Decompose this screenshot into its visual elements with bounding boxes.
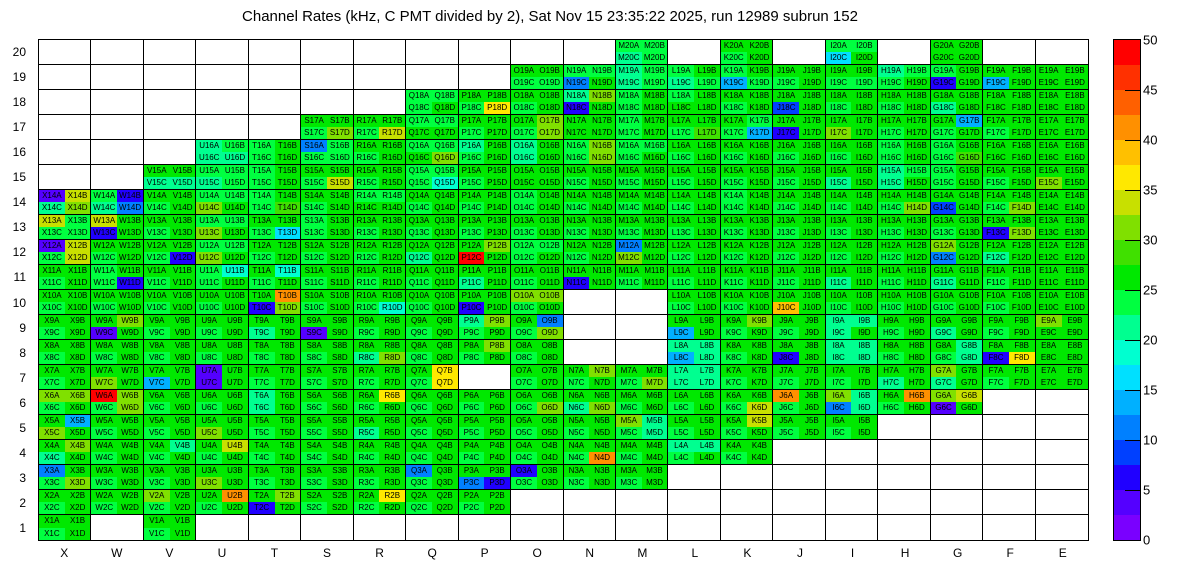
heatmap-subcell[interactable] <box>511 528 537 541</box>
heatmap-subcell[interactable] <box>694 40 720 52</box>
heatmap-subcell[interactable]: I9B <box>851 315 877 327</box>
heatmap-cell[interactable]: T4AT4BT4CT4D <box>249 440 301 465</box>
heatmap-subcell[interactable]: I19B <box>851 65 877 77</box>
heatmap-cell[interactable]: K15AK15BK15CK15D <box>721 165 773 190</box>
heatmap-subcell[interactable]: L15C <box>668 177 694 189</box>
heatmap-subcell[interactable]: J16D <box>799 152 825 164</box>
heatmap-subcell[interactable]: I7D <box>851 377 877 389</box>
heatmap-subcell[interactable]: P12D <box>484 252 510 264</box>
heatmap-subcell[interactable] <box>327 40 353 52</box>
heatmap-subcell[interactable]: F12A <box>983 240 1009 252</box>
heatmap-subcell[interactable]: I14D <box>851 202 877 214</box>
heatmap-subcell[interactable] <box>668 515 694 528</box>
heatmap-subcell[interactable]: S6A <box>301 390 327 402</box>
heatmap-subcell[interactable]: N6A <box>564 390 590 402</box>
heatmap-subcell[interactable]: X9C <box>39 327 65 339</box>
heatmap-subcell[interactable]: T9A <box>249 315 275 327</box>
heatmap-subcell[interactable]: X4B <box>65 440 91 452</box>
heatmap-cell[interactable]: R4AR4BR4CR4D <box>354 440 406 465</box>
heatmap-subcell[interactable]: G6B <box>956 390 982 402</box>
heatmap-subcell[interactable]: K10A <box>721 290 747 302</box>
heatmap-subcell[interactable]: Q12A <box>406 240 432 252</box>
heatmap-subcell[interactable] <box>747 502 773 514</box>
heatmap-subcell[interactable]: W11A <box>91 265 117 277</box>
heatmap-subcell[interactable] <box>878 415 904 427</box>
heatmap-subcell[interactable]: V1D <box>170 528 196 541</box>
heatmap-subcell[interactable]: N6D <box>589 402 615 414</box>
heatmap-cell[interactable]: M13AM13BM13CM13D <box>616 215 668 240</box>
heatmap-subcell[interactable]: K18D <box>747 102 773 114</box>
heatmap-subcell[interactable]: F9B <box>1009 315 1035 327</box>
heatmap-subcell[interactable] <box>354 528 380 541</box>
heatmap-subcell[interactable]: T7C <box>249 377 275 389</box>
heatmap-cell[interactable]: W3AW3BW3CW3D <box>91 465 143 490</box>
heatmap-subcell[interactable]: S10D <box>327 302 353 314</box>
heatmap-subcell[interactable]: M3D <box>642 477 668 489</box>
heatmap-subcell[interactable] <box>117 65 143 77</box>
heatmap-cell[interactable]: V8AV8BV8CV8D <box>144 340 196 365</box>
heatmap-subcell[interactable]: W12B <box>117 240 143 252</box>
heatmap-cell[interactable] <box>983 40 1035 65</box>
heatmap-subcell[interactable]: H12C <box>878 252 904 264</box>
heatmap-subcell[interactable] <box>747 528 773 541</box>
heatmap-subcell[interactable]: N5D <box>589 427 615 439</box>
heatmap-subcell[interactable] <box>799 528 825 541</box>
heatmap-subcell[interactable]: J14A <box>773 190 799 202</box>
heatmap-subcell[interactable]: R7D <box>379 377 405 389</box>
heatmap-subcell[interactable]: R11D <box>379 277 405 289</box>
heatmap-subcell[interactable]: M11D <box>642 277 668 289</box>
heatmap-subcell[interactable]: W10C <box>91 302 117 314</box>
heatmap-subcell[interactable]: P14D <box>484 202 510 214</box>
heatmap-subcell[interactable]: Q2A <box>406 490 432 502</box>
heatmap-subcell[interactable]: G8C <box>931 352 957 364</box>
heatmap-subcell[interactable] <box>1062 490 1088 502</box>
heatmap-subcell[interactable]: E13D <box>1062 227 1088 239</box>
heatmap-subcell[interactable]: N6C <box>564 402 590 414</box>
heatmap-subcell[interactable]: H10C <box>878 302 904 314</box>
heatmap-cell[interactable]: X4AX4BX4CX4D <box>39 440 91 465</box>
heatmap-cell[interactable]: H11AH11BH11CH11D <box>878 265 930 290</box>
heatmap-subcell[interactable] <box>406 40 432 52</box>
heatmap-subcell[interactable]: F12B <box>1009 240 1035 252</box>
heatmap-cell[interactable] <box>878 515 930 540</box>
heatmap-subcell[interactable] <box>39 40 65 52</box>
heatmap-subcell[interactable] <box>196 102 222 114</box>
heatmap-cell[interactable]: O13AO13BO13CO13D <box>511 215 563 240</box>
heatmap-cell[interactable]: K9AK9BK9CK9D <box>721 315 773 340</box>
heatmap-subcell[interactable]: K19D <box>747 77 773 89</box>
heatmap-subcell[interactable]: G6D <box>956 402 982 414</box>
heatmap-subcell[interactable]: W9D <box>117 327 143 339</box>
heatmap-cell[interactable]: G7AG7BG7CG7D <box>931 365 983 390</box>
heatmap-subcell[interactable]: O8D <box>537 352 563 364</box>
heatmap-subcell[interactable] <box>642 327 668 339</box>
heatmap-subcell[interactable]: S15B <box>327 165 353 177</box>
heatmap-subcell[interactable] <box>117 127 143 139</box>
heatmap-subcell[interactable]: J7B <box>799 365 825 377</box>
heatmap-subcell[interactable]: W11B <box>117 265 143 277</box>
heatmap-cell[interactable] <box>91 165 143 190</box>
heatmap-subcell[interactable]: W9B <box>117 315 143 327</box>
heatmap-subcell[interactable]: T11D <box>275 277 301 289</box>
heatmap-cell[interactable]: J15AJ15BJ15CJ15D <box>773 165 825 190</box>
heatmap-subcell[interactable] <box>39 177 65 189</box>
heatmap-subcell[interactable]: T6C <box>249 402 275 414</box>
heatmap-subcell[interactable]: N12D <box>589 252 615 264</box>
heatmap-cell[interactable] <box>196 40 248 65</box>
heatmap-subcell[interactable]: O9B <box>537 315 563 327</box>
heatmap-subcell[interactable]: P6A <box>459 390 485 402</box>
heatmap-cell[interactable]: S13AS13BS13CS13D <box>301 215 353 240</box>
heatmap-subcell[interactable]: W5A <box>91 415 117 427</box>
heatmap-subcell[interactable] <box>39 77 65 89</box>
heatmap-subcell[interactable] <box>222 90 248 102</box>
heatmap-subcell[interactable]: J14C <box>773 202 799 214</box>
heatmap-cell[interactable] <box>826 465 878 490</box>
heatmap-subcell[interactable]: L18D <box>694 102 720 114</box>
heatmap-subcell[interactable]: L5A <box>668 415 694 427</box>
heatmap-cell[interactable]: R3AR3BR3CR3D <box>354 465 406 490</box>
heatmap-subcell[interactable] <box>117 177 143 189</box>
heatmap-subcell[interactable] <box>222 52 248 64</box>
heatmap-subcell[interactable]: V9B <box>170 315 196 327</box>
heatmap-subcell[interactable] <box>931 502 957 514</box>
heatmap-subcell[interactable] <box>1036 452 1062 464</box>
heatmap-subcell[interactable] <box>144 127 170 139</box>
heatmap-subcell[interactable]: S10A <box>301 290 327 302</box>
heatmap-subcell[interactable]: H18A <box>878 90 904 102</box>
heatmap-subcell[interactable]: K7B <box>747 365 773 377</box>
heatmap-subcell[interactable]: Q10C <box>406 302 432 314</box>
heatmap-subcell[interactable]: H18C <box>878 102 904 114</box>
heatmap-subcell[interactable]: X5D <box>65 427 91 439</box>
heatmap-subcell[interactable] <box>931 427 957 439</box>
heatmap-subcell[interactable]: E7B <box>1062 365 1088 377</box>
heatmap-subcell[interactable]: F10B <box>1009 290 1035 302</box>
heatmap-subcell[interactable]: W3C <box>91 477 117 489</box>
heatmap-subcell[interactable]: K8A <box>721 340 747 352</box>
heatmap-subcell[interactable]: U5A <box>196 415 222 427</box>
heatmap-subcell[interactable]: F8C <box>983 352 1009 364</box>
heatmap-subcell[interactable]: X3C <box>39 477 65 489</box>
heatmap-subcell[interactable]: K7A <box>721 365 747 377</box>
heatmap-cell[interactable] <box>826 515 878 540</box>
heatmap-subcell[interactable]: U7C <box>196 377 222 389</box>
heatmap-subcell[interactable]: V12A <box>144 240 170 252</box>
heatmap-subcell[interactable]: E7A <box>1036 365 1062 377</box>
heatmap-subcell[interactable]: K18B <box>747 90 773 102</box>
heatmap-subcell[interactable] <box>91 165 117 177</box>
heatmap-cell[interactable]: E17AE17BE17CE17D <box>1036 115 1088 140</box>
heatmap-subcell[interactable]: J11B <box>799 265 825 277</box>
heatmap-subcell[interactable] <box>616 528 642 541</box>
heatmap-subcell[interactable]: K4C <box>721 452 747 464</box>
heatmap-subcell[interactable]: L12B <box>694 240 720 252</box>
heatmap-subcell[interactable]: L7C <box>668 377 694 389</box>
heatmap-subcell[interactable]: U11D <box>222 277 248 289</box>
heatmap-subcell[interactable]: I5D <box>851 427 877 439</box>
heatmap-subcell[interactable]: X5B <box>65 415 91 427</box>
heatmap-subcell[interactable]: J14B <box>799 190 825 202</box>
heatmap-subcell[interactable] <box>249 528 275 541</box>
heatmap-subcell[interactable]: K9A <box>721 315 747 327</box>
heatmap-subcell[interactable]: L4D <box>694 452 720 464</box>
heatmap-subcell[interactable]: N17B <box>589 115 615 127</box>
heatmap-cell[interactable] <box>773 440 825 465</box>
heatmap-subcell[interactable]: E14A <box>1036 190 1062 202</box>
heatmap-cell[interactable]: E9AE9BE9CE9D <box>1036 315 1088 340</box>
heatmap-subcell[interactable]: X10B <box>65 290 91 302</box>
heatmap-subcell[interactable]: H17D <box>904 127 930 139</box>
heatmap-subcell[interactable]: Q17A <box>406 115 432 127</box>
heatmap-subcell[interactable]: K5C <box>721 427 747 439</box>
heatmap-subcell[interactable]: S9C <box>301 327 327 339</box>
heatmap-subcell[interactable]: V4D <box>170 452 196 464</box>
heatmap-subcell[interactable]: V3D <box>170 477 196 489</box>
heatmap-subcell[interactable] <box>564 352 590 364</box>
heatmap-cell[interactable] <box>91 115 143 140</box>
heatmap-plot[interactable]: M20AM20BM20CM20DK20AK20BK20CK20DI20AI20B… <box>38 39 1089 541</box>
heatmap-subcell[interactable]: M20D <box>642 52 668 64</box>
heatmap-subcell[interactable]: O4C <box>511 452 537 464</box>
heatmap-subcell[interactable]: G13B <box>956 215 982 227</box>
heatmap-subcell[interactable]: G12D <box>956 252 982 264</box>
heatmap-subcell[interactable]: J6C <box>773 402 799 414</box>
heatmap-subcell[interactable]: F17D <box>1009 127 1035 139</box>
heatmap-subcell[interactable]: G16C <box>931 152 957 164</box>
heatmap-cell[interactable]: S14AS14BS14CS14D <box>301 190 353 215</box>
heatmap-subcell[interactable]: G6A <box>931 390 957 402</box>
heatmap-subcell[interactable]: H16D <box>904 152 930 164</box>
heatmap-subcell[interactable]: E7C <box>1036 377 1062 389</box>
heatmap-subcell[interactable] <box>275 77 301 89</box>
heatmap-cell[interactable]: T12AT12BT12CT12D <box>249 240 301 265</box>
heatmap-cell[interactable]: U4AU4BU4CU4D <box>196 440 248 465</box>
heatmap-subcell[interactable]: F8D <box>1009 352 1035 364</box>
heatmap-cell[interactable]: X13AX13BX13CX13D <box>39 215 91 240</box>
heatmap-subcell[interactable]: L4C <box>668 452 694 464</box>
heatmap-subcell[interactable] <box>484 40 510 52</box>
heatmap-subcell[interactable]: H7B <box>904 365 930 377</box>
heatmap-subcell[interactable] <box>117 528 143 541</box>
heatmap-subcell[interactable]: S7B <box>327 365 353 377</box>
heatmap-cell[interactable]: F12AF12BF12CF12D <box>983 240 1035 265</box>
heatmap-subcell[interactable] <box>327 52 353 64</box>
heatmap-subcell[interactable]: F15D <box>1009 177 1035 189</box>
heatmap-subcell[interactable] <box>983 40 1009 52</box>
heatmap-subcell[interactable]: I5C <box>826 427 852 439</box>
heatmap-subcell[interactable]: G15A <box>931 165 957 177</box>
heatmap-subcell[interactable]: T8C <box>249 352 275 364</box>
heatmap-subcell[interactable]: U8A <box>196 340 222 352</box>
heatmap-subcell[interactable]: O9D <box>537 327 563 339</box>
heatmap-subcell[interactable]: G19C <box>931 77 957 89</box>
heatmap-subcell[interactable] <box>904 40 930 52</box>
heatmap-subcell[interactable]: S13B <box>327 215 353 227</box>
heatmap-subcell[interactable]: P11D <box>484 277 510 289</box>
heatmap-subcell[interactable]: P4D <box>484 452 510 464</box>
heatmap-subcell[interactable] <box>694 528 720 541</box>
heatmap-subcell[interactable] <box>65 127 91 139</box>
heatmap-subcell[interactable]: V12B <box>170 240 196 252</box>
heatmap-subcell[interactable] <box>1036 390 1062 402</box>
heatmap-subcell[interactable]: W3B <box>117 465 143 477</box>
heatmap-subcell[interactable] <box>406 515 432 528</box>
heatmap-subcell[interactable]: M19B <box>642 65 668 77</box>
heatmap-subcell[interactable]: P16D <box>484 152 510 164</box>
heatmap-cell[interactable] <box>301 65 353 90</box>
heatmap-subcell[interactable] <box>117 52 143 64</box>
heatmap-subcell[interactable] <box>589 528 615 541</box>
heatmap-subcell[interactable]: Q11A <box>406 265 432 277</box>
heatmap-cell[interactable]: I20AI20BI20CI20D <box>826 40 878 65</box>
heatmap-subcell[interactable] <box>1062 502 1088 514</box>
heatmap-subcell[interactable]: S15A <box>301 165 327 177</box>
heatmap-subcell[interactable]: U7A <box>196 365 222 377</box>
heatmap-subcell[interactable]: J5C <box>773 427 799 439</box>
heatmap-subcell[interactable]: M7B <box>642 365 668 377</box>
heatmap-subcell[interactable]: U9D <box>222 327 248 339</box>
heatmap-cell[interactable]: L7AL7BL7CL7D <box>668 365 720 390</box>
heatmap-subcell[interactable]: S4D <box>327 452 353 464</box>
heatmap-cell[interactable] <box>564 315 616 340</box>
heatmap-subcell[interactable]: T14A <box>249 190 275 202</box>
heatmap-subcell[interactable]: L18C <box>668 102 694 114</box>
heatmap-subcell[interactable]: X4A <box>39 440 65 452</box>
heatmap-subcell[interactable]: G13A <box>931 215 957 227</box>
heatmap-subcell[interactable]: P2B <box>484 490 510 502</box>
heatmap-subcell[interactable]: V8B <box>170 340 196 352</box>
heatmap-subcell[interactable]: G7D <box>956 377 982 389</box>
heatmap-subcell[interactable]: P17B <box>484 115 510 127</box>
heatmap-subcell[interactable] <box>747 490 773 502</box>
heatmap-subcell[interactable]: W3A <box>91 465 117 477</box>
heatmap-subcell[interactable]: W3D <box>117 477 143 489</box>
heatmap-subcell[interactable]: T14B <box>275 190 301 202</box>
heatmap-subcell[interactable]: H7C <box>878 377 904 389</box>
heatmap-subcell[interactable]: J12A <box>773 240 799 252</box>
heatmap-subcell[interactable]: V6D <box>170 402 196 414</box>
heatmap-subcell[interactable]: Q10A <box>406 290 432 302</box>
heatmap-subcell[interactable]: G15D <box>956 177 982 189</box>
heatmap-subcell[interactable]: E11C <box>1036 277 1062 289</box>
heatmap-cell[interactable]: H16AH16BH16CH16D <box>878 140 930 165</box>
heatmap-cell[interactable]: F14AF14BF14CF14D <box>983 190 1035 215</box>
heatmap-subcell[interactable]: I6C <box>826 402 852 414</box>
heatmap-cell[interactable]: K14AK14BK14CK14D <box>721 190 773 215</box>
heatmap-subcell[interactable]: U15B <box>222 165 248 177</box>
heatmap-subcell[interactable]: Q8D <box>432 352 458 364</box>
heatmap-subcell[interactable]: K4A <box>721 440 747 452</box>
heatmap-subcell[interactable]: U7B <box>222 365 248 377</box>
heatmap-subcell[interactable]: X2B <box>65 490 91 502</box>
heatmap-subcell[interactable] <box>222 40 248 52</box>
heatmap-cell[interactable]: N15AN15BN15CN15D <box>564 165 616 190</box>
heatmap-cell[interactable]: R7AR7BR7CR7D <box>354 365 406 390</box>
heatmap-subcell[interactable]: R14A <box>354 190 380 202</box>
heatmap-subcell[interactable] <box>65 77 91 89</box>
heatmap-subcell[interactable]: I15D <box>851 177 877 189</box>
heatmap-subcell[interactable]: K5B <box>747 415 773 427</box>
heatmap-subcell[interactable] <box>564 528 590 541</box>
heatmap-cell[interactable]: I18AI18BI18CI18D <box>826 90 878 115</box>
heatmap-subcell[interactable]: K10C <box>721 302 747 314</box>
heatmap-subcell[interactable]: U7D <box>222 377 248 389</box>
heatmap-cell[interactable]: Q14AQ14BQ14CQ14D <box>406 190 458 215</box>
heatmap-subcell[interactable]: R6D <box>379 402 405 414</box>
heatmap-subcell[interactable]: M18D <box>642 102 668 114</box>
heatmap-subcell[interactable] <box>1062 440 1088 452</box>
heatmap-subcell[interactable]: G17C <box>931 127 957 139</box>
heatmap-cell[interactable]: T13AT13BT13CT13D <box>249 215 301 240</box>
heatmap-subcell[interactable]: O12A <box>511 240 537 252</box>
heatmap-subcell[interactable]: W2C <box>91 502 117 514</box>
heatmap-subcell[interactable]: J11C <box>773 277 799 289</box>
heatmap-subcell[interactable]: W5D <box>117 427 143 439</box>
heatmap-subcell[interactable]: N3D <box>589 477 615 489</box>
heatmap-subcell[interactable]: R13A <box>354 215 380 227</box>
heatmap-subcell[interactable]: G18B <box>956 90 982 102</box>
heatmap-subcell[interactable]: J7D <box>799 377 825 389</box>
heatmap-subcell[interactable]: W7B <box>117 365 143 377</box>
heatmap-subcell[interactable]: V5C <box>144 427 170 439</box>
heatmap-subcell[interactable]: E10C <box>1036 302 1062 314</box>
heatmap-subcell[interactable]: V14C <box>144 202 170 214</box>
heatmap-subcell[interactable] <box>196 90 222 102</box>
heatmap-cell[interactable]: L11AL11BL11CL11D <box>668 265 720 290</box>
heatmap-subcell[interactable]: T10A <box>249 290 275 302</box>
heatmap-subcell[interactable]: I14B <box>851 190 877 202</box>
heatmap-subcell[interactable]: I18B <box>851 90 877 102</box>
heatmap-subcell[interactable]: I15C <box>826 177 852 189</box>
heatmap-subcell[interactable]: V6A <box>144 390 170 402</box>
heatmap-subcell[interactable] <box>406 77 432 89</box>
heatmap-subcell[interactable]: H15A <box>878 165 904 177</box>
heatmap-cell[interactable]: O14AO14BO14CO14D <box>511 190 563 215</box>
heatmap-subcell[interactable]: G14D <box>956 202 982 214</box>
heatmap-subcell[interactable]: X8A <box>39 340 65 352</box>
heatmap-subcell[interactable]: K8B <box>747 340 773 352</box>
heatmap-subcell[interactable]: O16B <box>537 140 563 152</box>
heatmap-subcell[interactable]: X1D <box>65 528 91 541</box>
heatmap-subcell[interactable]: V5A <box>144 415 170 427</box>
heatmap-cell[interactable]: E19AE19BE19CE19D <box>1036 65 1088 90</box>
heatmap-subcell[interactable] <box>249 102 275 114</box>
heatmap-subcell[interactable]: L11D <box>694 277 720 289</box>
heatmap-subcell[interactable]: U11A <box>196 265 222 277</box>
heatmap-cell[interactable]: N5AN5BN5CN5D <box>564 415 616 440</box>
heatmap-subcell[interactable]: H10A <box>878 290 904 302</box>
heatmap-cell[interactable] <box>196 65 248 90</box>
heatmap-subcell[interactable]: Q3A <box>406 465 432 477</box>
heatmap-subcell[interactable]: G8A <box>931 340 957 352</box>
heatmap-cell[interactable] <box>616 290 668 315</box>
heatmap-subcell[interactable]: V1B <box>170 515 196 528</box>
heatmap-subcell[interactable] <box>459 65 485 77</box>
heatmap-subcell[interactable]: R17D <box>379 127 405 139</box>
heatmap-subcell[interactable]: N15A <box>564 165 590 177</box>
heatmap-subcell[interactable] <box>773 40 799 52</box>
heatmap-subcell[interactable] <box>1009 402 1035 414</box>
heatmap-cell[interactable] <box>1036 390 1088 415</box>
heatmap-subcell[interactable]: H7D <box>904 377 930 389</box>
heatmap-subcell[interactable] <box>222 515 248 528</box>
heatmap-subcell[interactable]: I19A <box>826 65 852 77</box>
heatmap-subcell[interactable]: H12D <box>904 252 930 264</box>
heatmap-subcell[interactable]: R9C <box>354 327 380 339</box>
heatmap-subcell[interactable]: N16C <box>564 152 590 164</box>
